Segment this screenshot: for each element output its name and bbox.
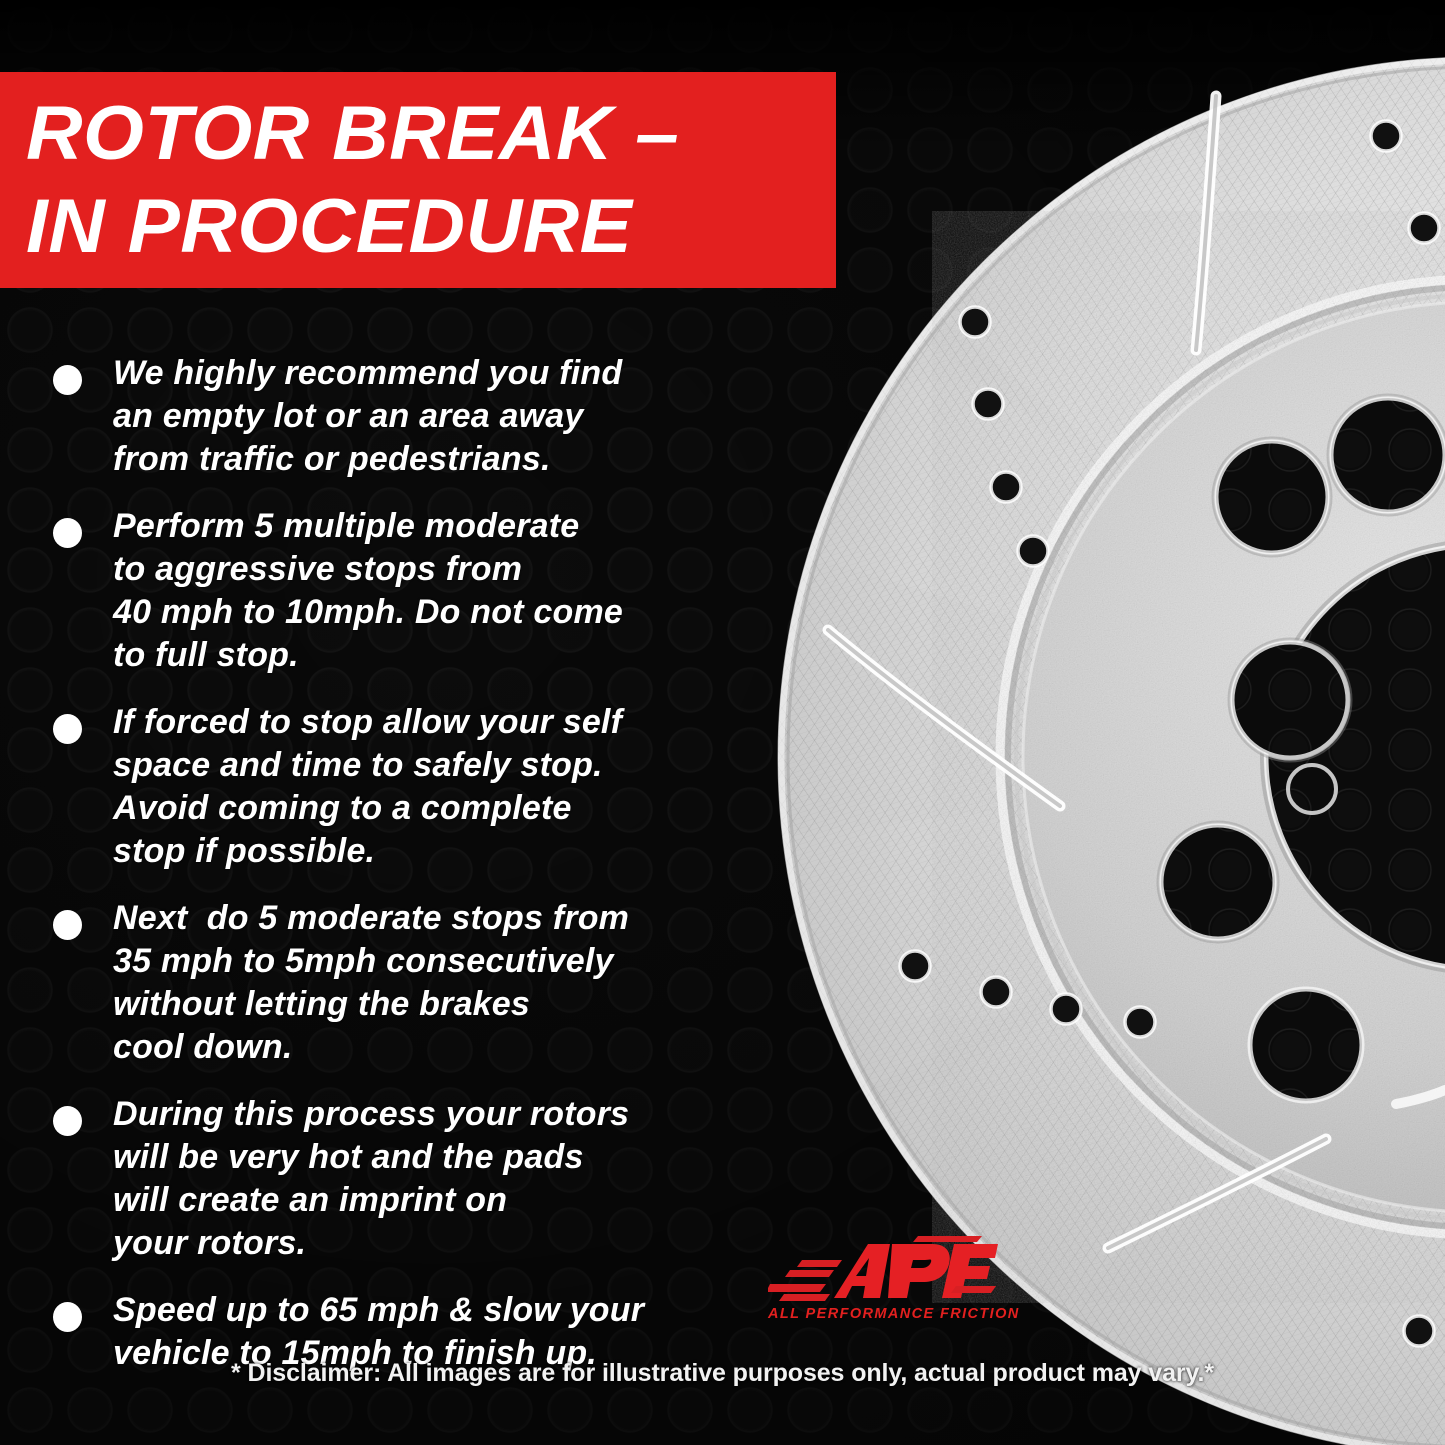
procedure-step-list: We highly recommend you find an empty lo…: [0, 352, 790, 1399]
bullet-dot-icon: [53, 1302, 82, 1332]
title-line-1: ROTOR BREAK –: [26, 87, 860, 180]
list-item: During this process your rotors will be …: [0, 1093, 790, 1265]
list-item-text: Next do 5 moderate stops from 35 mph to …: [113, 897, 629, 1069]
title-banner: ROTOR BREAK – IN PROCEDURE: [0, 72, 836, 288]
title-line-2: IN PROCEDURE: [26, 180, 860, 273]
bullet-dot-icon: [53, 1106, 82, 1136]
list-item: If forced to stop allow your self space …: [0, 701, 790, 873]
apf-tagline: ALL PERFORMANCE FRICTION: [768, 1306, 998, 1322]
list-item: Perform 5 multiple moderate to aggressiv…: [0, 505, 790, 677]
list-item: Next do 5 moderate stops from 35 mph to …: [0, 897, 790, 1069]
bullet-dot-icon: [53, 518, 82, 548]
list-item-text: During this process your rotors will be …: [113, 1093, 629, 1265]
bullet-dot-icon: [53, 714, 82, 744]
bullet-dot-icon: [53, 365, 82, 395]
apf-speed-logo-icon: [768, 1236, 998, 1308]
list-item: We highly recommend you find an empty lo…: [0, 352, 790, 481]
disclaimer-text: * Disclaimer: All images are for illustr…: [0, 1359, 1445, 1388]
list-item-text: Perform 5 multiple moderate to aggressiv…: [113, 505, 623, 677]
apf-brand-logo: ALL PERFORMANCE FRICTION: [768, 1236, 998, 1332]
bullet-dot-icon: [53, 910, 82, 940]
poster-root: ROTOR BREAK – IN PROCEDURE We highly rec…: [0, 0, 1445, 1445]
list-item-text: We highly recommend you find an empty lo…: [113, 352, 622, 481]
list-item-text: If forced to stop allow your self space …: [113, 701, 622, 873]
